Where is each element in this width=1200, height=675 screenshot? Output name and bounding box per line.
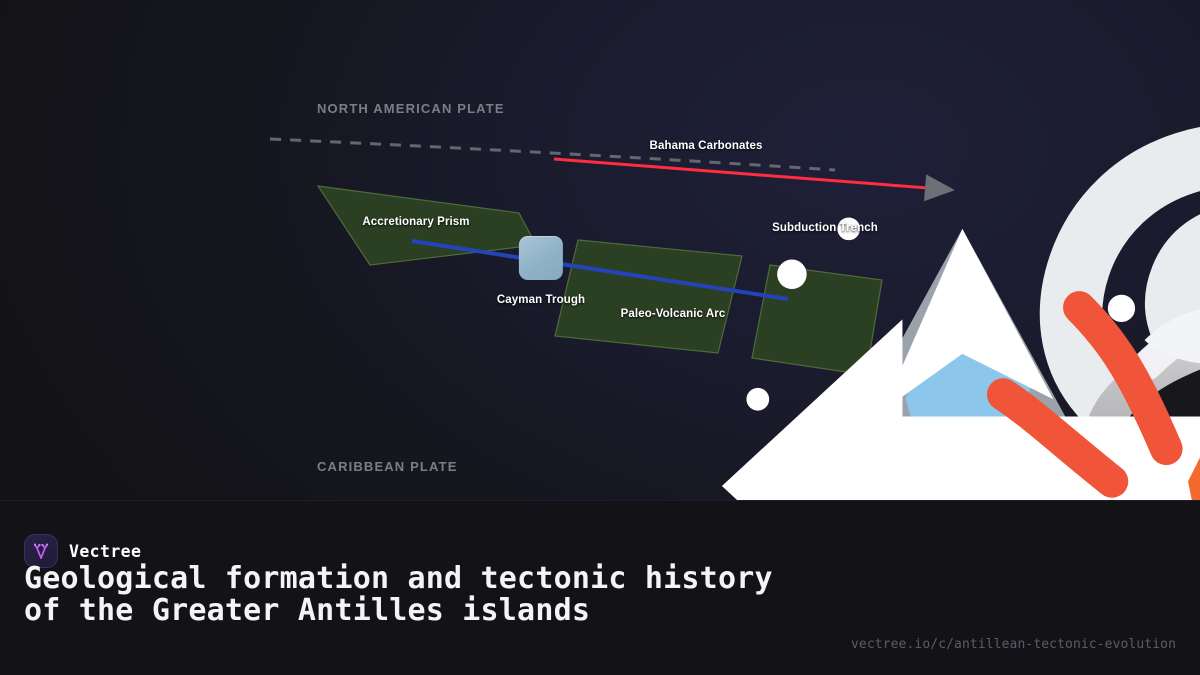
feature-bahama-carbonates[interactable]: Bahama Carbonates: [650, 96, 763, 152]
brand-name: Vectree: [69, 542, 141, 561]
feature-paleo-volcanic-arc[interactable]: Paleo-Volcanic Arc: [621, 264, 726, 320]
bottom-banner: Vectree Geological formation and tectoni…: [0, 500, 1200, 675]
left-right-arrow-icon: [519, 236, 563, 280]
screenshot-root: NORTH AMERICAN PLATE CARIBBEAN PLATE Bah…: [0, 0, 1200, 675]
feature-subduction-trench[interactable]: Subduction Trench: [772, 178, 878, 234]
feature-cayman-trough[interactable]: Cayman Trough: [497, 236, 585, 306]
tectonic-diagram[interactable]: NORTH AMERICAN PLATE CARIBBEAN PLATE Bah…: [0, 0, 1200, 500]
feature-accretionary-prism[interactable]: Accretionary Prism: [362, 172, 469, 228]
page-title: Geological formation and tectonic histor…: [24, 563, 814, 627]
source-url: vectree.io/c/antillean-tectonic-evolutio…: [851, 637, 1176, 652]
left-right-arrow-chip[interactable]: [519, 236, 563, 280]
region-label-north-american-plate: NORTH AMERICAN PLATE: [317, 101, 505, 116]
